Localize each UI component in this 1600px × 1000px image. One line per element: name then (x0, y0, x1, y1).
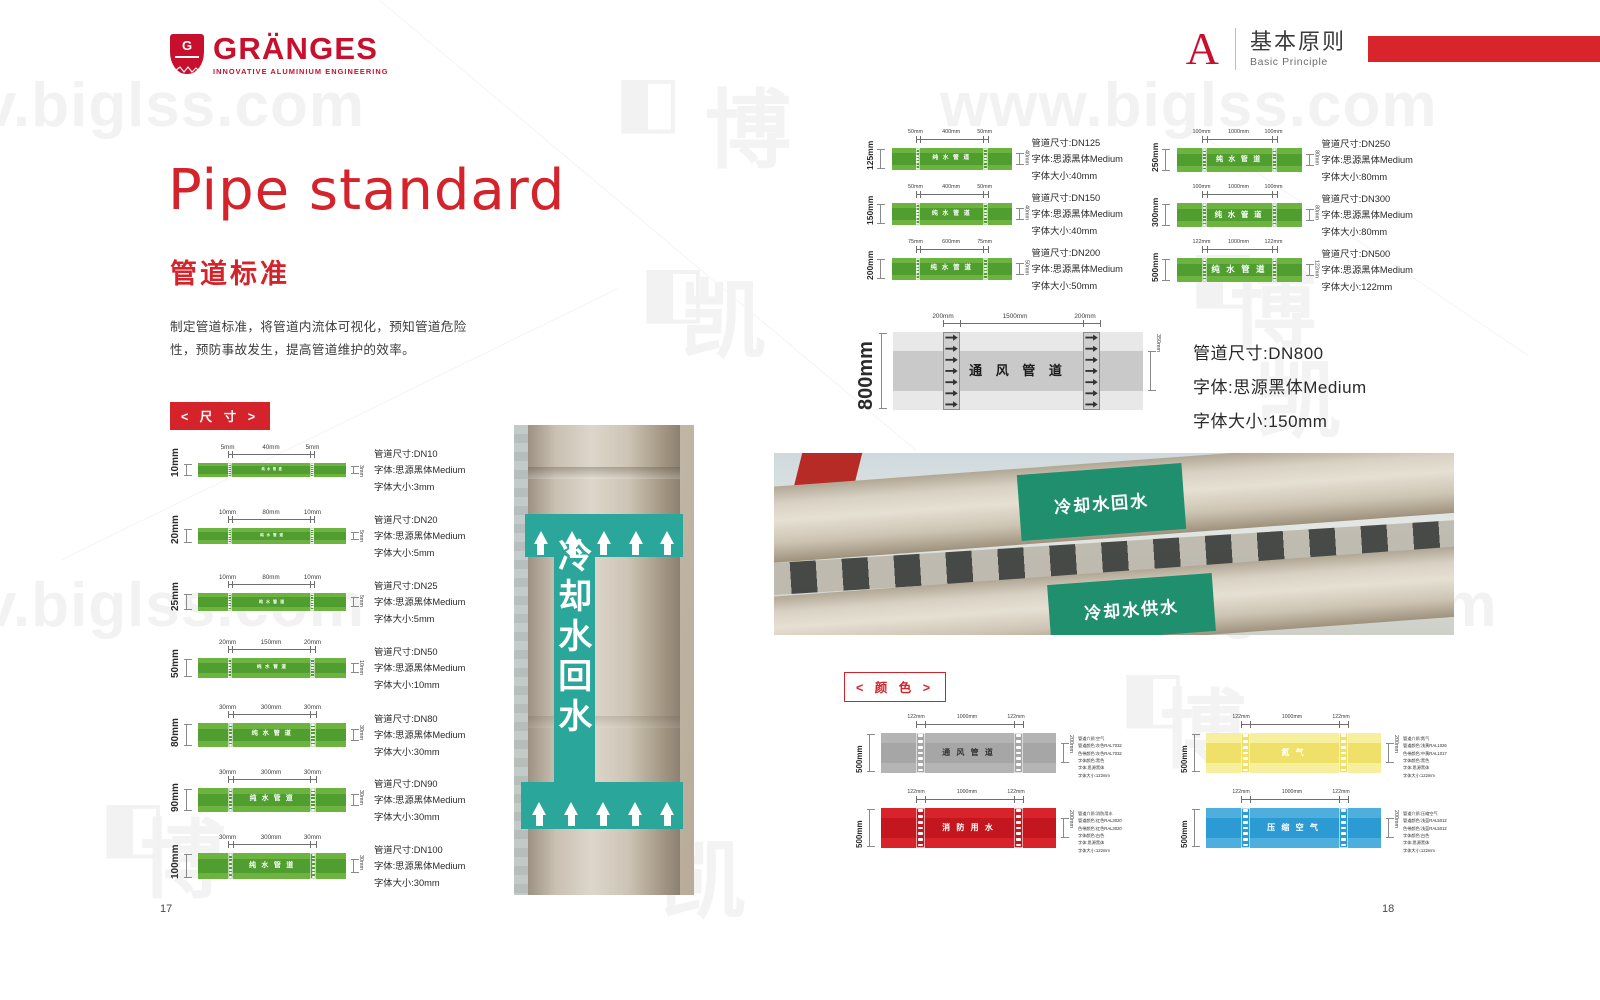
band-tick-column (1272, 258, 1277, 282)
dimension-label: 1000mm (1223, 184, 1255, 190)
band-label: 纯 水 管 道 (198, 862, 346, 869)
pipe-marker-band: 纯 水 管 道 (1177, 258, 1302, 282)
color-spec-line: 字体大小:122mm (1403, 847, 1447, 854)
band-tick-column (228, 853, 234, 879)
dimension-label: 400mm (935, 184, 967, 190)
dimension-label: 122mm (1000, 789, 1032, 795)
dimension-label: 300mm (255, 834, 287, 841)
spec-font-size: 字体大小:5mm (374, 545, 465, 561)
color-spec-line: 字体颜色:黑色 (1403, 757, 1447, 764)
pipe-marker-band: 通 风 管 道 (881, 733, 1056, 773)
band-tick-column (310, 593, 314, 611)
color-spec-line: 字体颜色:黑色 (1078, 757, 1122, 764)
band-tick-column (916, 203, 921, 225)
dimension-label: 50mm (969, 184, 1001, 190)
dimension-label: 100mm (1258, 184, 1290, 190)
color-spec-line: 管道颜色:浅黄RAL1026 (1403, 742, 1447, 749)
dimension-cap (1241, 796, 1242, 803)
spec-font: 字体:思源黑体Medium (1032, 261, 1123, 277)
dimension-cap (1207, 136, 1208, 143)
dimension-label: 122mm (900, 714, 932, 720)
spec-font: 字体:思源黑体Medium (374, 792, 465, 808)
spec-font-size: 字体大小:5mm (374, 611, 465, 627)
band-tick-column (310, 788, 315, 812)
spec-text: 管道尺寸:DN80字体:思源黑体Medium字体大小:30mm (374, 711, 465, 760)
band-height-tick (353, 729, 354, 741)
dimension-label: 20mm (296, 639, 328, 646)
dimension-cap (1250, 721, 1251, 728)
dimension-cap (988, 246, 989, 253)
spec-dn: 管道尺寸:DN20 (374, 512, 465, 528)
spec-height-label: 300mm (1150, 203, 1160, 227)
band-height-label: 5mm (358, 530, 364, 542)
spec-text: 管道介质:压缩空气管道颜色:浅蓝RAL5012色带颜色:浅蓝RAL5012字体颜… (1403, 810, 1447, 854)
dimension-cap (1277, 136, 1278, 143)
color-spec-line: 色带颜色:中黄RAL1017 (1403, 750, 1447, 757)
band-tick-column (1202, 148, 1207, 172)
spec-font-size: 字体大小:150mm (1193, 405, 1367, 439)
color-spec-line: 管道颜色:灰色RAL7032 (1078, 742, 1122, 749)
spec-font-size: 字体大小:80mm (1322, 224, 1413, 240)
band-tick-column (983, 258, 988, 280)
badge-color: < 颜 色 > (844, 672, 946, 702)
spec-text: 管道尺寸:DN100字体:思源黑体Medium字体大小:30mm (374, 842, 465, 891)
band-height-label: 200mm (1393, 810, 1399, 828)
spec-font-size: 字体大小:30mm (374, 809, 465, 825)
dimension-label: 5mm (296, 444, 328, 451)
dimension-cap (1272, 191, 1273, 198)
dimension-label: 200mm (1069, 313, 1101, 320)
spec-height-label: 500mm (855, 733, 864, 773)
dimension-label: 122mm (1000, 714, 1032, 720)
band-height-label: 40mm (1024, 150, 1030, 165)
spec-height-tick (881, 333, 882, 409)
spec-text: 管道介质:氮气管道颜色:浅黄RAL1026色带颜色:中黄RAL1017字体颜色:… (1403, 735, 1447, 779)
band-label: 纯 水 管 道 (892, 211, 1012, 217)
dimension-cap (1250, 796, 1251, 803)
spec-dn: 管道尺寸:DN25 (374, 578, 465, 594)
band-height-label: 200mm (1068, 735, 1074, 753)
band-tick-column (916, 808, 925, 848)
dimension-cap (228, 581, 229, 588)
duct-arrow-icon (945, 334, 957, 340)
spec-height-label: 100mm (170, 853, 181, 879)
spec-height-label: 25mm (170, 593, 181, 611)
duct-arrow-icon (1085, 401, 1097, 407)
dimension-label: 1000mm (1223, 239, 1255, 245)
color-spec-line: 管道颜色:红色RAL3020 (1078, 817, 1122, 824)
band-tick-column (1202, 203, 1207, 227)
dimension-line (1202, 194, 1277, 195)
dimension-line (1202, 139, 1277, 140)
duct-arrow-icon (1085, 334, 1097, 340)
band-height-tick (1309, 154, 1310, 166)
band-tick-column (916, 258, 921, 280)
spec-height-tick (186, 659, 187, 677)
dimension-line (916, 139, 988, 140)
band-tick-column (1014, 808, 1023, 848)
dimension-cap (1348, 721, 1349, 728)
pipe-marker-band: 纯 水 管 道 (892, 258, 1012, 280)
spec-height-label: 150mm (865, 203, 875, 225)
spec-dn: 管道尺寸:DN250 (1322, 136, 1413, 152)
dimension-label: 122mm (900, 789, 932, 795)
dimension-cap (228, 451, 229, 458)
band-label: 纯 水 管 道 (198, 534, 346, 538)
band-tick-column (916, 148, 921, 170)
band-tick-column (943, 332, 960, 410)
color-spec-line: 字体大小:122mm (1078, 772, 1122, 779)
spec-font-size: 字体大小:30mm (374, 875, 465, 891)
dimension-line (943, 323, 1100, 324)
dimension-label: 10mm (212, 574, 244, 581)
spec-font: 字体:思源黑体Medium (374, 462, 465, 478)
band-height-tick (353, 466, 354, 473)
band-height-tick (353, 663, 354, 673)
dimension-cap (916, 721, 917, 728)
dimension-cap (310, 581, 311, 588)
band-height-label: 30mm (358, 855, 364, 870)
dimension-cap (988, 191, 989, 198)
band-label: 纯 水 管 道 (1177, 211, 1302, 218)
dimension-line (228, 844, 317, 845)
dimension-line (228, 714, 316, 715)
duct-arrow-icon (1085, 346, 1097, 352)
color-spec-line: 字体:思源黑体 (1403, 839, 1447, 846)
spec-height-label: 800mm (855, 332, 878, 410)
page-description: 制定管道标准，将管道内流体可视化，预知管道危险性，预防事故发生，提高管道维护的效… (170, 316, 480, 363)
spec-font-size: 字体大小:40mm (1032, 168, 1123, 184)
band-tick-column (310, 463, 314, 477)
band-label: 纯 水 管 道 (198, 468, 346, 471)
dimension-cap (315, 646, 316, 653)
band-label: 纯 水 管 道 (198, 731, 346, 737)
dimension-label: 50mm (900, 184, 932, 190)
duct-arrow-icon (945, 346, 957, 352)
spec-height-tick (1165, 149, 1166, 171)
band-height-tick (1063, 818, 1064, 839)
dimension-label: 122mm (1325, 714, 1357, 720)
dimension-label: 1500mm (999, 313, 1031, 320)
dimension-cap (1277, 246, 1278, 253)
spec-font-size: 字体大小:40mm (1032, 223, 1123, 239)
dimension-cap (1339, 796, 1340, 803)
pipe-marker-band: 纯 水 管 道 (198, 658, 346, 678)
dimension-label: 1000mm (951, 789, 983, 795)
dimension-cap (925, 721, 926, 728)
pipe-marker-band: 纯 水 管 道 (198, 463, 346, 477)
duct-arrow-icon (1085, 390, 1097, 396)
dimension-cap (1202, 136, 1203, 143)
spec-height-tick (1194, 809, 1195, 847)
dimension-cap (943, 320, 944, 327)
pipe-marker-band: 纯 水 管 道 (198, 723, 346, 747)
spec-height-label: 50mm (170, 658, 181, 678)
spec-dn: 管道尺寸:DN90 (374, 776, 465, 792)
dimension-label: 30mm (296, 704, 328, 711)
spec-height-label: 90mm (170, 788, 181, 812)
color-spec-line: 管道介质:消防用水 (1078, 810, 1122, 817)
dimension-cap (1348, 796, 1349, 803)
band-height-label: 40mm (1024, 205, 1030, 220)
spec-dn: 管道尺寸:DN150 (1032, 190, 1123, 206)
band-label: 纯 水 管 道 (198, 600, 346, 604)
dimension-cap (988, 136, 989, 143)
spec-height-tick (186, 724, 187, 746)
dimension-label: 122mm (1258, 239, 1290, 245)
band-height-tick (1019, 263, 1020, 274)
pipe-marker-band: 纯 水 管 道 (1177, 148, 1302, 172)
band-label: 压 缩 空 气 (1206, 824, 1381, 832)
pipe-band-supply: 冷却水供水 (1047, 573, 1216, 635)
dimension-label: 200mm (927, 313, 959, 320)
dimension-cap (314, 581, 315, 588)
spec-dn: 管道尺寸:DN125 (1032, 135, 1123, 151)
band-tick-column (983, 148, 988, 170)
spec-dn: 管道尺寸:DN300 (1322, 191, 1413, 207)
band-height-tick (1309, 264, 1310, 276)
band-tick-column (310, 658, 314, 678)
band-label: 纯 水 管 道 (892, 265, 1012, 271)
dimension-cap (916, 136, 917, 143)
dimension-line (916, 249, 988, 250)
band-tick-column (1014, 733, 1023, 773)
band-tick-column (1272, 148, 1277, 172)
spec-font-size: 字体大小:80mm (1322, 169, 1413, 185)
spec-text: 管道尺寸:DN300字体:思源黑体Medium字体大小:80mm (1322, 191, 1413, 240)
page-title-cn: 管道标准 (170, 252, 290, 291)
band-label: 氮 气 (1206, 749, 1381, 757)
spec-height-label: 250mm (1150, 148, 1160, 172)
band-tick-column (228, 528, 232, 544)
band-tick-column (228, 723, 233, 747)
dimension-cap (1202, 191, 1203, 198)
band-height-tick (1019, 153, 1020, 164)
dimension-label: 20mm (212, 639, 244, 646)
dimension-line (228, 454, 315, 455)
dimension-cap (1014, 721, 1015, 728)
pipe-marker-band: 纯 水 管 道 (198, 528, 346, 544)
dimension-label: 80mm (255, 509, 287, 516)
band-tick-column (1272, 203, 1277, 227)
color-spec-line: 字体大小:122mm (1403, 772, 1447, 779)
band-height-tick (1309, 209, 1310, 221)
dimension-cap (1083, 320, 1084, 327)
spec-text: 管道尺寸:DN250字体:思源黑体Medium字体大小:80mm (1322, 136, 1413, 185)
band-tick-column (228, 658, 232, 678)
dimension-label: 1000mm (1276, 714, 1308, 720)
dimension-cap (1272, 246, 1273, 253)
duct-arrow-icon (945, 401, 957, 407)
spec-font: 字体:思源黑体Medium (1032, 206, 1123, 222)
dimension-label: 30mm (296, 769, 328, 776)
spec-font: 字体:思源黑体Medium (374, 858, 465, 874)
band-tick-column (1339, 733, 1348, 773)
dimension-cap (233, 841, 234, 848)
badge-size: < 尺 寸 > (170, 402, 270, 430)
band-height-label: 10mm (358, 660, 364, 675)
dimension-label: 10mm (212, 509, 244, 516)
left-page: Pipe standard 管道标准 制定管道标准，将管道内流体可视化，预知管道… (0, 0, 760, 1000)
color-spec-line: 字体:思源黑体 (1078, 764, 1122, 771)
spec-font-size: 字体大小:30mm (374, 744, 465, 760)
right-page: 125mm纯 水 管 道50mm400mm50mm40mm管道尺寸:DN125字… (760, 0, 1600, 1000)
spec-dn: 管道尺寸:DN100 (374, 842, 465, 858)
spec-font: 字体:思源黑体Medium (374, 528, 465, 544)
band-tick-column (228, 463, 232, 477)
band-tick-column (1241, 808, 1250, 848)
dimension-label: 100mm (1186, 184, 1218, 190)
spec-text: 管道介质:消防用水管道颜色:红色RAL3020色带颜色:红色RAL3020字体颜… (1078, 810, 1122, 854)
dimension-label: 50mm (969, 129, 1001, 135)
dimension-cap (1014, 796, 1015, 803)
spec-font: 字体:思源黑体Medium (1322, 207, 1413, 223)
spec-font: 字体:思源黑体Medium (1032, 151, 1123, 167)
dimension-cap (983, 136, 984, 143)
dimension-label: 75mm (900, 239, 932, 245)
spec-text: 管道尺寸:DN125字体:思源黑体Medium字体大小:40mm (1032, 135, 1123, 184)
dimension-label: 30mm (212, 769, 244, 776)
spec-font: 字体:思源黑体Medium (374, 727, 465, 743)
color-spec-line: 管道颜色:浅蓝RAL5012 (1403, 817, 1447, 824)
spec-height-label: 500mm (1150, 258, 1160, 282)
dimension-label: 122mm (1225, 714, 1257, 720)
band-label: 纯 水 管 道 (198, 665, 346, 670)
duct-arrow-icon (1085, 357, 1097, 363)
dimension-cap (310, 776, 311, 783)
spec-height-label: 10mm (170, 463, 181, 477)
dimension-cap (316, 711, 317, 718)
band-height-tick (353, 794, 354, 806)
spec-font-size: 字体大小:50mm (1032, 278, 1123, 294)
band-height-label: 30mm (358, 725, 364, 740)
photo-horizontal-pipes: 冷却水回水 冷却水供水 (774, 453, 1454, 635)
spec-text: 管道尺寸:DN150字体:思源黑体Medium字体大小:40mm (1032, 190, 1123, 239)
spec-height-tick (186, 529, 187, 543)
color-spec-line: 色带颜色:灰色RAL7032 (1078, 750, 1122, 757)
spec-font-size: 字体大小:3mm (374, 479, 465, 495)
spec-height-label: 125mm (865, 148, 875, 170)
dimension-cap (310, 646, 311, 653)
dimension-label: 122mm (1225, 789, 1257, 795)
pipe-marker-band: 纯 水 管 道 (892, 148, 1012, 170)
dimension-label: 10mm (296, 509, 328, 516)
spec-font-size: 字体大小:10mm (374, 677, 465, 693)
dimension-cap (1023, 796, 1024, 803)
dimension-cap (920, 246, 921, 253)
dimension-cap (310, 516, 311, 523)
color-spec-line: 色带颜色:浅蓝RAL5012 (1403, 825, 1447, 832)
dimension-cap (983, 246, 984, 253)
color-spec-line: 色带颜色:红色RAL3020 (1078, 825, 1122, 832)
dimension-cap (316, 776, 317, 783)
spec-dn: 管道尺寸:DN800 (1193, 337, 1367, 371)
dimension-cap (314, 451, 315, 458)
spec-text: 管道尺寸:DN800字体:思源黑体Medium字体大小:150mm (1193, 337, 1367, 439)
band-height-label: 80mm (1314, 150, 1320, 165)
dimension-cap (1023, 721, 1024, 728)
spec-height-tick (186, 594, 187, 610)
spec-font: 字体:思源黑体Medium (1322, 262, 1413, 278)
spec-height-tick (880, 204, 881, 224)
spec-font: 字体:思源黑体Medium (1193, 371, 1367, 405)
dimension-cap (232, 646, 233, 653)
duct-arrow-icon (945, 368, 957, 374)
pipe-marker-band: 通 风 管 道 (893, 332, 1143, 410)
band-tick-column (983, 203, 988, 225)
page-number-left: 17 (160, 903, 172, 915)
band-height-label: 80mm (1314, 205, 1320, 220)
dimension-cap (983, 191, 984, 198)
dimension-cap (920, 191, 921, 198)
band-height-tick (1388, 818, 1389, 839)
dimension-label: 100mm (1258, 129, 1290, 135)
spec-height-tick (880, 259, 881, 279)
duct-arrow-icon (945, 357, 957, 363)
dimension-cap (310, 711, 311, 718)
dimension-cap (960, 320, 961, 327)
pipe-marker-band: 纯 水 管 道 (1177, 203, 1302, 227)
band-height-label: 50mm (1024, 260, 1030, 275)
spec-height-label: 500mm (855, 808, 864, 848)
pipe-band-return: 冷却水回水 (1017, 463, 1186, 541)
spec-text: 管道尺寸:DN20字体:思源黑体Medium字体大小:5mm (374, 512, 465, 561)
band-label: 纯 水 管 道 (892, 156, 1012, 162)
spec-height-tick (869, 734, 870, 772)
spec-text: 管道尺寸:DN500字体:思源黑体Medium字体大小:122mm (1322, 246, 1413, 295)
band-height-tick (353, 859, 354, 873)
dimension-label: 150mm (255, 639, 287, 646)
pipe-marker-band: 纯 水 管 道 (198, 853, 346, 879)
band-tick-column (228, 593, 232, 611)
dimension-label: 122mm (1186, 239, 1218, 245)
band-height-label: 122mm (1314, 260, 1320, 278)
dimension-label: 50mm (900, 129, 932, 135)
spec-height-label: 80mm (170, 723, 181, 747)
color-spec-line: 字体大小:122mm (1078, 847, 1122, 854)
dimension-label: 75mm (969, 239, 1001, 245)
band-height-tick (1150, 351, 1151, 392)
spec-height-label: 500mm (1180, 733, 1189, 773)
band-tick-column (310, 853, 316, 879)
dimension-cap (1207, 191, 1208, 198)
spec-height-tick (1165, 204, 1166, 226)
dimension-cap (1272, 136, 1273, 143)
dimension-label: 300mm (255, 704, 287, 711)
band-height-tick (1388, 743, 1389, 764)
duct-arrow-icon (1085, 368, 1097, 374)
dimension-cap (916, 246, 917, 253)
page-title-en: Pipe standard (168, 158, 565, 223)
pipe-marker-band: 压 缩 空 气 (1206, 808, 1381, 848)
dimension-line (916, 194, 988, 195)
band-height-label: 200mm (1393, 735, 1399, 753)
dimension-label: 1000mm (1223, 129, 1255, 135)
dimension-label: 30mm (212, 704, 244, 711)
dimension-cap (916, 796, 917, 803)
band-tick-column (1202, 258, 1207, 282)
page-number-right: 18 (1382, 903, 1394, 915)
color-spec-line: 字体颜色:白色 (1403, 832, 1447, 839)
color-spec-line: 管道介质:氮气 (1403, 735, 1447, 742)
dimension-cap (314, 516, 315, 523)
dimension-label: 122mm (1325, 789, 1357, 795)
color-spec-line: 管道介质:空气 (1078, 735, 1122, 742)
dimension-label: 30mm (296, 834, 328, 841)
dimension-cap (228, 646, 229, 653)
dimension-cap (316, 841, 317, 848)
color-spec-line: 字体:思源黑体 (1403, 764, 1447, 771)
